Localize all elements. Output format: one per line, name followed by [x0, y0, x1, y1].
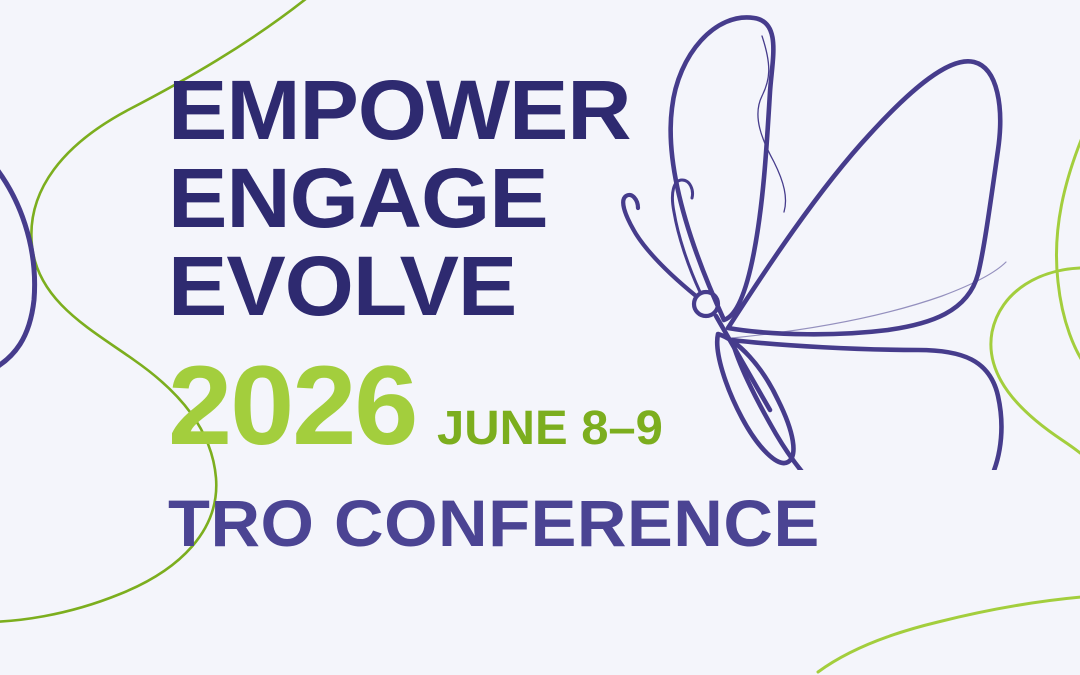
event-dates: JUNE 8–9	[437, 405, 663, 453]
headline-line-1: EMPOWER	[168, 66, 974, 154]
conference-poster: EMPOWER ENGAGE EVOLVE 2026 JUNE 8–9 TRO …	[0, 0, 1080, 675]
headline-line-3: EVOLVE	[168, 242, 974, 330]
year-and-dates-row: 2026 JUNE 8–9	[168, 350, 928, 462]
conference-name: TRO CONFERENCE	[168, 488, 958, 558]
headline-line-2: ENGAGE	[168, 154, 974, 242]
curve-right-edge-green	[1056, 128, 1080, 372]
poster-text-block: EMPOWER ENGAGE EVOLVE 2026 JUNE 8–9 TRO …	[168, 66, 928, 558]
curve-bottom-right-green	[818, 596, 1080, 672]
event-year: 2026	[168, 350, 416, 462]
curve-left-purple	[0, 156, 35, 372]
